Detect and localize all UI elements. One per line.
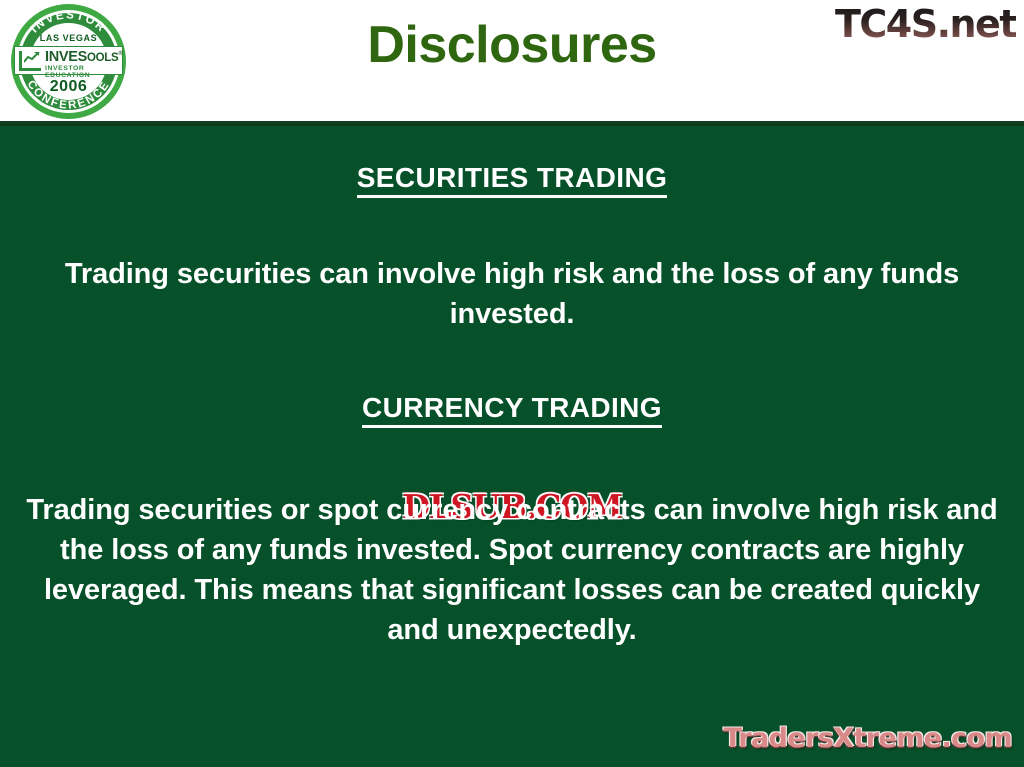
section-paragraph-currency: Trading securities or spot currency cont… — [0, 490, 1024, 650]
section-heading-securities-text: SECURITIES TRADING — [357, 162, 668, 198]
watermark-tradersxtreme: TradersXtreme.com — [723, 723, 1012, 754]
section-heading-currency: CURRENCY TRADING — [0, 392, 1024, 424]
watermark-tc4s: TC4S.net — [835, 2, 1016, 46]
section-heading-securities: SECURITIES TRADING — [0, 162, 1024, 194]
slide-body: SECURITIES TRADING Trading securities ca… — [0, 126, 1024, 767]
slide: INVESTOR CONFERENCE LAS VEGAS INVESOOLS® — [0, 0, 1024, 767]
section-heading-currency-text: CURRENCY TRADING — [362, 392, 662, 428]
logo-year: 2006 — [11, 78, 126, 96]
section-paragraph-securities: Trading securities can involve high risk… — [0, 254, 1024, 334]
slide-header: INVESTOR CONFERENCE LAS VEGAS INVESOOLS® — [0, 0, 1024, 121]
